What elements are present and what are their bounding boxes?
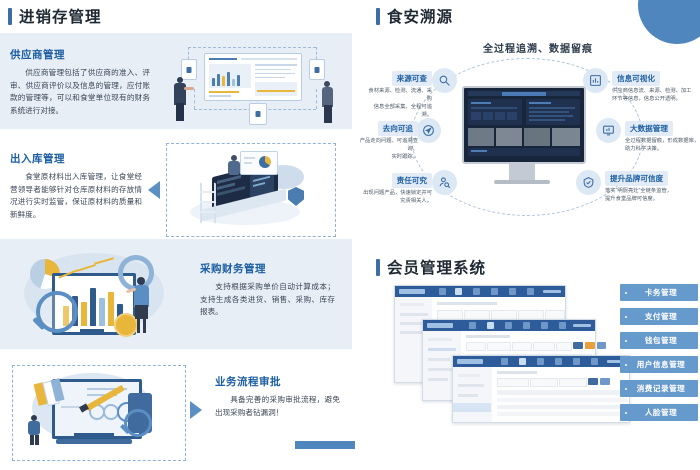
warehouse-arrow (148, 181, 160, 199)
member-button-wallet[interactable]: 钱包管理 (620, 332, 698, 349)
trace-subtitle: 全过程追溯、数据留痕 (376, 40, 700, 55)
node-label-accountability: 责任可究 出现问题产品，快速锁定并可 究责相关人。 (362, 170, 432, 206)
finance-chart-illustration (20, 251, 180, 339)
member-section-header: 会员管理系统 (376, 256, 486, 278)
inventory-section-header: 进销存管理 (8, 5, 102, 27)
warehouse-management-band: 出入库管理 食堂原材料出入库管理，让食堂经营领导者能够针对仓库原材料的存放情况进… (0, 129, 352, 239)
node-title: 大数据管理 (625, 121, 673, 136)
member-button-face[interactable]: 人脸管理 (620, 404, 698, 421)
heading-accent-bar (8, 8, 12, 25)
trace-section-header: 食安溯源 (376, 5, 453, 27)
right-column: 食安溯源 全过程追溯、数据留痕 (376, 0, 700, 470)
inventory-management-column: 进销存管理 供应商管理 供应商管理包括了供应商的准入、评审、供应商评价以及信息的… (0, 0, 352, 470)
supplier-body: 供应商管理包括了供应商的准入、评审、供应商评价以及信息的管理，应付账款的管理等，… (10, 67, 150, 117)
warehouse-text-block: 出入库管理 食堂原材料出入库管理，让食堂经营领导者能够针对仓库原材料的存放情况进… (10, 151, 142, 221)
approval-text-block: 业务流程审批 具备完善的采购审批流程，避免出现采购者钻漏洞！ (215, 374, 340, 419)
node-label-source-traceable: 来源可查 食材来源、检测、流通、采购 信息全部采集、全程可追溯。 (366, 68, 432, 120)
warehouse-body: 食堂原材料出入库管理，让食堂经营领导者能够针对仓库原材料的存放情况进行实时监管，… (10, 171, 142, 221)
member-dashboard-screenshot-3[interactable] (452, 355, 630, 423)
node-desc: 食材来源、检测、流通、采购 信息全部采集、全程可追溯。 (366, 88, 432, 120)
approval-body: 具备完善的采购审批流程，避免出现采购者钻漏洞！ (215, 394, 340, 419)
node-icon-big-data[interactable] (596, 118, 621, 143)
finance-body: 支持根据采购单价自动计算成本；支持生成各类进货、销售、采购、库存报表。 (200, 281, 335, 319)
bottom-accent-bar (295, 441, 355, 449)
finance-text-block: 采购财务管理 支持根据采购单价自动计算成本；支持生成各类进货、销售、采购、库存报… (200, 261, 335, 319)
supplier-text-block: 供应商管理 供应商管理包括了供应商的准入、评审、供应商评价以及信息的管理，应付账… (10, 47, 150, 117)
node-title: 责任可究 (392, 173, 432, 188)
member-screenshots-group (390, 285, 635, 420)
node-desc: 供应商信息流、来源、检测、加工 环节等信息，信息公开透明。 (612, 88, 698, 104)
node-title: 来源可查 (392, 71, 432, 86)
node-icon-brand-trust[interactable] (576, 170, 601, 195)
node-icon-destination-trackable[interactable] (416, 118, 441, 143)
heading-accent-bar (376, 259, 380, 276)
shield-icon (288, 187, 304, 206)
supplier-title: 供应商管理 (10, 47, 150, 62)
warehouse-laptop-illustration (176, 147, 326, 231)
member-feature-buttons: 卡务管理 支付管理 钱包管理 用户信息管理 消费记录管理 人脸管理 (620, 284, 698, 428)
node-desc: 出现问题产品，快速锁定并可 究责相关人。 (362, 190, 432, 206)
approval-workflow-illustration (22, 369, 178, 455)
finance-management-band: 采购财务管理 支持根据采购单价自动计算成本；支持生成各类进货、销售、采购、库存报… (0, 239, 352, 349)
node-label-info-visualization: 信息可视化 供应商信息流、来源、检测、加工 环节等信息，信息公开透明。 (612, 68, 698, 104)
node-icon-source-traceable[interactable] (432, 68, 457, 93)
member-button-payment[interactable]: 支付管理 (620, 308, 698, 325)
node-label-brand-trust: 提升品牌可信度 落实“明厨亮灶”全链条监管， 提升食堂品牌可信度。 (605, 168, 695, 204)
node-label-destination-trackable: 去向可追 产品走向问题、可追溯查询、 实时跟踪。 (352, 118, 418, 162)
node-icon-info-visualization[interactable] (583, 68, 608, 93)
supplier-network-illustration (172, 41, 342, 123)
node-desc: 落实“明厨亮灶”全链条监管， 提升食堂品牌可信度。 (605, 188, 695, 204)
member-button-card[interactable]: 卡务管理 (620, 284, 698, 301)
node-title: 去向可追 (378, 121, 418, 136)
heading-accent-bar (376, 8, 380, 25)
page-title: 进销存管理 (19, 5, 102, 27)
node-icon-accountability[interactable] (432, 170, 457, 195)
node-desc: 全过程数据留痕，形成数据库， 助力科学决策。 (625, 138, 700, 154)
approval-arrow (190, 401, 202, 419)
finance-title: 采购财务管理 (200, 261, 335, 276)
warehouse-title: 出入库管理 (10, 151, 142, 166)
node-title: 信息可视化 (612, 71, 660, 86)
supplier-management-band: 供应商管理 供应商管理包括了供应商的准入、评审、供应商评价以及信息的管理，应付账… (0, 33, 352, 129)
imac-monitor-dashboard (462, 86, 582, 184)
approval-workflow-band: 业务流程审批 具备完善的采购审批流程，避免出现采购者钻漏洞！ (0, 349, 352, 470)
member-title: 会员管理系统 (387, 256, 486, 278)
trace-title: 食安溯源 (387, 5, 453, 27)
node-desc: 产品走向问题、可追溯查询、 实时跟踪。 (352, 138, 418, 162)
approval-title: 业务流程审批 (215, 374, 340, 389)
node-title: 提升品牌可信度 (605, 171, 668, 186)
node-label-big-data: 大数据管理 全过程数据留痕，形成数据库， 助力科学决策。 (625, 118, 700, 154)
member-button-consumption-record[interactable]: 消费记录管理 (620, 380, 698, 397)
member-button-user-info[interactable]: 用户信息管理 (620, 356, 698, 373)
